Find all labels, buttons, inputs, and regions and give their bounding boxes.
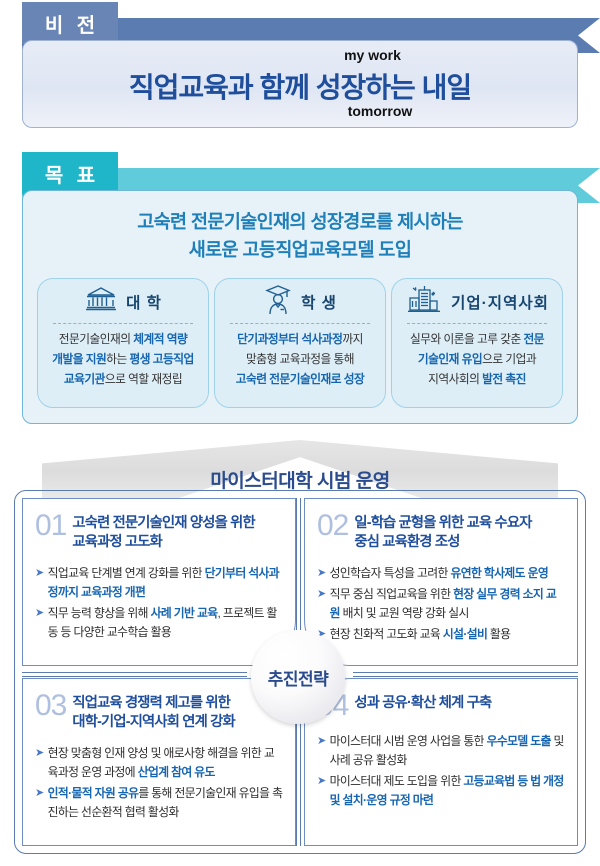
- divider: [53, 323, 193, 324]
- bullet-icon: ➤: [317, 772, 326, 810]
- bullet-icon: ➤: [35, 604, 44, 642]
- vision-tab-label: 비 전: [22, 2, 118, 44]
- bullet-icon: ➤: [317, 564, 326, 583]
- university-icon: [84, 284, 118, 319]
- strategy-title: 고숙련 전문기술인재 양성을 위한 교육과정 고도화: [72, 511, 254, 553]
- bullet-icon: ➤: [35, 564, 44, 602]
- strategy-item: ➤현장 친화적 고도화 교육 시설·설비 활용: [317, 625, 566, 644]
- goal-panel: 고숙련 전문기술인재의 성장경로를 제시하는 새로운 고등직업교육모델 도입: [22, 190, 578, 424]
- bullet-icon: ➤: [35, 744, 44, 782]
- strategy-title: 성과 공유·확산 체계 구축: [354, 691, 491, 713]
- strategy-box-02[interactable]: 02 일-학습 균형을 위한 교육 수요자 중심 교육환경 조성 ➤성인학습자 …: [304, 498, 578, 666]
- bullet-icon: ➤: [35, 784, 44, 822]
- strategy-title: 직업교육 경쟁력 제고를 위한 대학-기업-지역사회 연계 강화: [72, 691, 235, 733]
- infographic-page: 비 전 my work 직업교육과 함께 성장하는 내일 tomorrow 목 …: [0, 0, 600, 866]
- strategy-title-line1: 고숙련 전문기술인재 양성을 위한: [72, 515, 254, 531]
- strategy-item-list: ➤마이스터대 시범 운영 사업을 통한 우수모델 도출 및 사례 공유 활성화➤…: [305, 721, 577, 810]
- strategy-item: ➤직무 능력 향상을 위해 사례 기반 교육, 프로젝트 활동 등 다양한 교수…: [35, 604, 284, 642]
- goal-card-company-region[interactable]: 기업·지역사회 실무와 이론을 고루 갖춘 전문기술인재 유입으로 기업과지역사…: [391, 278, 563, 408]
- goal-card-body: 전문기술인재의 체계적 역량개발을 지원하는 평생 고등직업교육기관으로 역할 …: [46, 330, 200, 390]
- chevron-label: 마이스터대학 시범 운영: [0, 466, 600, 493]
- strategy-item-list: ➤현장 맞춤형 인재 양성 및 애로사항 해결을 위한 교육과정 운영 과정에 …: [23, 733, 295, 822]
- goal-card-body: 단기과정부터 석사과정까지맞춤형 교육과정을 통해고숙련 전문기술인재로 성장: [230, 330, 371, 390]
- center-badge-label: 추진전략: [268, 665, 329, 690]
- goal-title-line1: 고숙련 전문기술인재의 성장경로를 제시하는: [23, 208, 577, 236]
- bullet-icon: ➤: [317, 732, 326, 770]
- goal-card-label: 대 학: [126, 291, 162, 313]
- goal-tab-label: 목 표: [22, 152, 118, 194]
- strategy-item: ➤인적·물적 자원 공유를 통해 전문기술인재 유입을 촉진하는 선순환적 협력…: [35, 784, 284, 822]
- strategy-box-04[interactable]: 04 성과 공유·확산 체계 구축 ➤마이스터대 시범 운영 사업을 통한 우수…: [304, 678, 578, 846]
- strategy-item: ➤성인학습자 특성을 고려한 유연한 학사제도 운영: [317, 564, 566, 583]
- goal-card-body: 실무와 이론을 고루 갖춘 전문기술인재 유입으로 기업과지역사회의 발전 촉진: [404, 330, 550, 390]
- strategy-item: ➤직업교육 단계별 연계 강화를 위한 단기부터 석사과정까지 교육과정 개편: [35, 564, 284, 602]
- goal-card-label: 기업·지역사회: [451, 291, 549, 313]
- strategy-title-line2: 대학-기업-지역사회 연계 강화: [72, 714, 235, 730]
- strategy-item: ➤마이스터대 시범 운영 사업을 통한 우수모델 도출 및 사례 공유 활성화: [317, 732, 566, 770]
- vision-panel: my work 직업교육과 함께 성장하는 내일 tomorrow: [22, 40, 578, 128]
- strategy-item: ➤현장 맞춤형 인재 양성 및 애로사항 해결을 위한 교육과정 운영 과정에 …: [35, 744, 284, 782]
- goal-card-university[interactable]: 대 학 전문기술인재의 체계적 역량개발을 지원하는 평생 고등직업교육기관으로…: [37, 278, 209, 408]
- vision-english-top: my work: [23, 47, 577, 63]
- divider: [407, 323, 547, 324]
- graduate-student-icon: [263, 283, 293, 320]
- goal-card-label: 학 생: [301, 291, 337, 313]
- strategy-title-line1: 일-학습 균형을 위한 교육 수요자: [354, 515, 531, 531]
- strategy-item-list: ➤성인학습자 특성을 고려한 유연한 학사제도 운영➤직무 중심 직업교육을 위…: [305, 553, 577, 644]
- strategy-number: 02: [317, 511, 348, 541]
- bullet-icon: ➤: [317, 585, 326, 623]
- strategy-item-list: ➤직업교육 단계별 연계 강화를 위한 단기부터 석사과정까지 교육과정 개편➤…: [23, 553, 295, 642]
- divider: [230, 323, 370, 324]
- vision-english-bottom: tomorrow: [23, 103, 577, 119]
- vision-title: 직업교육과 함께 성장하는 내일: [23, 66, 577, 106]
- goal-card-list: 대 학 전문기술인재의 체계적 역량개발을 지원하는 평생 고등직업교육기관으로…: [23, 278, 577, 408]
- strategy-number: 03: [35, 691, 66, 721]
- goal-title-line2: 새로운 고등직업교육모델 도입: [23, 236, 577, 264]
- strategy-title: 일-학습 균형을 위한 교육 수요자 중심 교육환경 조성: [354, 511, 531, 553]
- strategy-box-01[interactable]: 01 고숙련 전문기술인재 양성을 위한 교육과정 고도화 ➤직업교육 단계별 …: [22, 498, 296, 666]
- strategy-box-03[interactable]: 03 직업교육 경쟁력 제고를 위한 대학-기업-지역사회 연계 강화 ➤현장 …: [22, 678, 296, 846]
- center-badge: 추진전략: [251, 630, 345, 724]
- strategy-title-line1: 성과 공유·확산 체계 구축: [354, 695, 491, 711]
- strategy-item: ➤마이스터대 제도 도입을 위한 고등교육법 등 법 개정 및 설치·운영 규정…: [317, 772, 566, 810]
- goal-title: 고숙련 전문기술인재의 성장경로를 제시하는 새로운 고등직업교육모델 도입: [23, 208, 577, 264]
- strategy-number: 01: [35, 511, 66, 541]
- buildings-icon: [405, 284, 443, 319]
- strategy-title-line2: 중심 교육환경 조성: [354, 534, 459, 550]
- strategy-item: ➤직무 중심 직업교육을 위한 현장 실무 경력 소지 교원 배치 및 교원 역…: [317, 585, 566, 623]
- strategy-title-line1: 직업교육 경쟁력 제고를 위한: [72, 695, 230, 711]
- strategy-title-line2: 교육과정 고도화: [72, 534, 162, 550]
- goal-card-student[interactable]: 학 생 단기과정부터 석사과정까지맞춤형 교육과정을 통해고숙련 전문기술인재로…: [214, 278, 386, 408]
